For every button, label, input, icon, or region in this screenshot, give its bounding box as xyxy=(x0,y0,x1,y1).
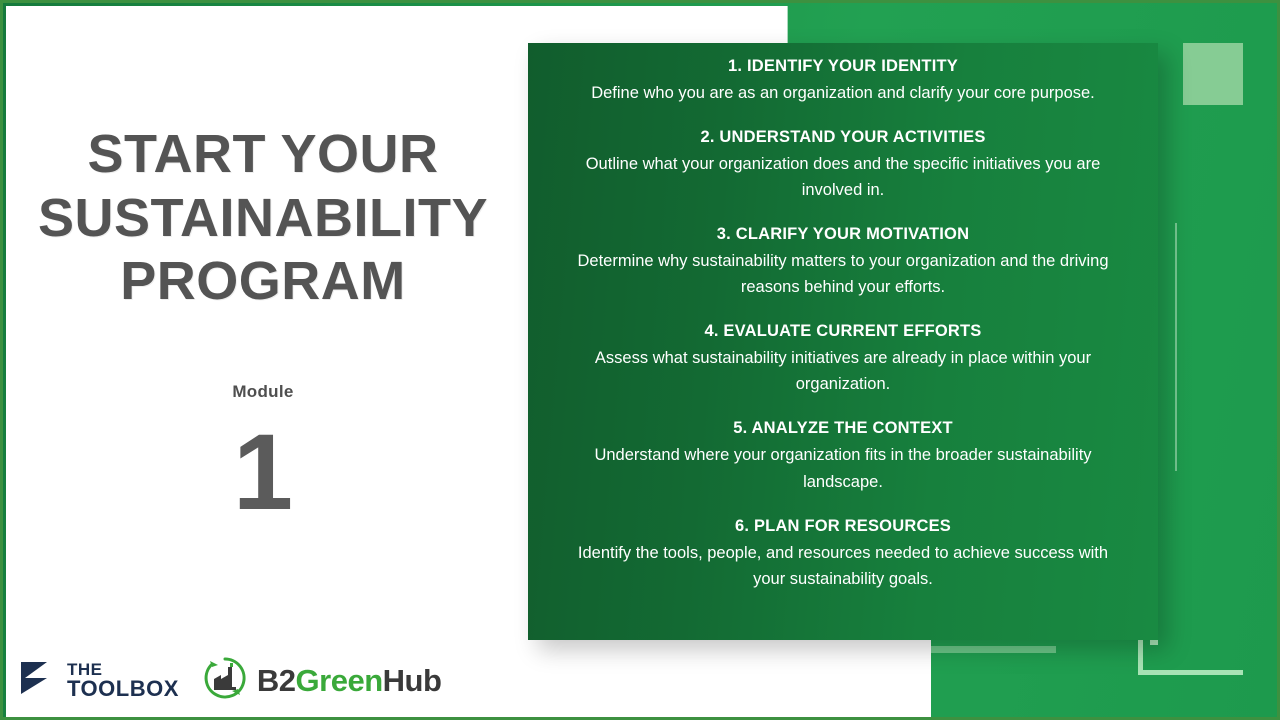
toolbox-line2: TOOLBOX xyxy=(67,678,179,700)
module-number: 1 xyxy=(23,418,503,526)
step-title: 1. IDENTIFY YOUR IDENTITY xyxy=(542,57,1144,76)
module-label: Module xyxy=(23,382,503,402)
b2-highlight: Green xyxy=(296,663,383,698)
step-item: 6. PLAN FOR RESOURCES Identify the tools… xyxy=(542,517,1144,592)
step-item: 1. IDENTIFY YOUR IDENTITY Define who you… xyxy=(542,57,1144,106)
step-item: 5. ANALYZE THE CONTEXT Understand where … xyxy=(542,419,1144,494)
step-description: Identify the tools, people, and resource… xyxy=(542,540,1144,592)
step-description: Understand where your organization fits … xyxy=(542,442,1144,494)
step-description: Define who you are as an organization an… xyxy=(542,80,1144,106)
toolbox-stripes-icon xyxy=(17,656,59,705)
step-description: Determine why sustainability matters to … xyxy=(542,248,1144,300)
step-description: Assess what sustainability initiatives a… xyxy=(542,345,1144,397)
b2-suffix: Hub xyxy=(383,663,442,698)
logo-bar: THE TOOLBOX B2GreenHub xyxy=(17,654,441,707)
decor-square-icon xyxy=(1183,43,1243,105)
step-description: Outline what your organization does and … xyxy=(542,151,1144,203)
decor-vertical-line xyxy=(1175,223,1177,471)
step-item: 2. UNDERSTAND YOUR ACTIVITIES Outline wh… xyxy=(542,128,1144,203)
step-title: 3. CLARIFY YOUR MOTIVATION xyxy=(542,225,1144,244)
slide-canvas: START YOUR SUSTAINABILITY PROGRAM Module… xyxy=(0,0,1280,720)
left-column: START YOUR SUSTAINABILITY PROGRAM Module… xyxy=(23,123,503,526)
b2greenhub-wordmark: B2GreenHub xyxy=(257,663,442,699)
step-title: 6. PLAN FOR RESOURCES xyxy=(542,517,1144,536)
step-item: 3. CLARIFY YOUR MOTIVATION Determine why… xyxy=(542,225,1144,300)
step-title: 2. UNDERSTAND YOUR ACTIVITIES xyxy=(542,128,1144,147)
toolbox-wordmark: THE TOOLBOX xyxy=(67,661,179,700)
steps-card: 1. IDENTIFY YOUR IDENTITY Define who you… xyxy=(528,43,1158,640)
logo-b2greenhub: B2GreenHub xyxy=(201,654,442,707)
step-item: 4. EVALUATE CURRENT EFFORTS Assess what … xyxy=(542,322,1144,397)
b2-prefix: B2 xyxy=(257,663,296,698)
step-title: 5. ANALYZE THE CONTEXT xyxy=(542,419,1144,438)
page-title: START YOUR SUSTAINABILITY PROGRAM xyxy=(23,123,503,314)
factory-recycle-icon xyxy=(201,654,249,707)
logo-the-toolbox: THE TOOLBOX xyxy=(17,656,179,705)
step-title: 4. EVALUATE CURRENT EFFORTS xyxy=(542,322,1144,341)
